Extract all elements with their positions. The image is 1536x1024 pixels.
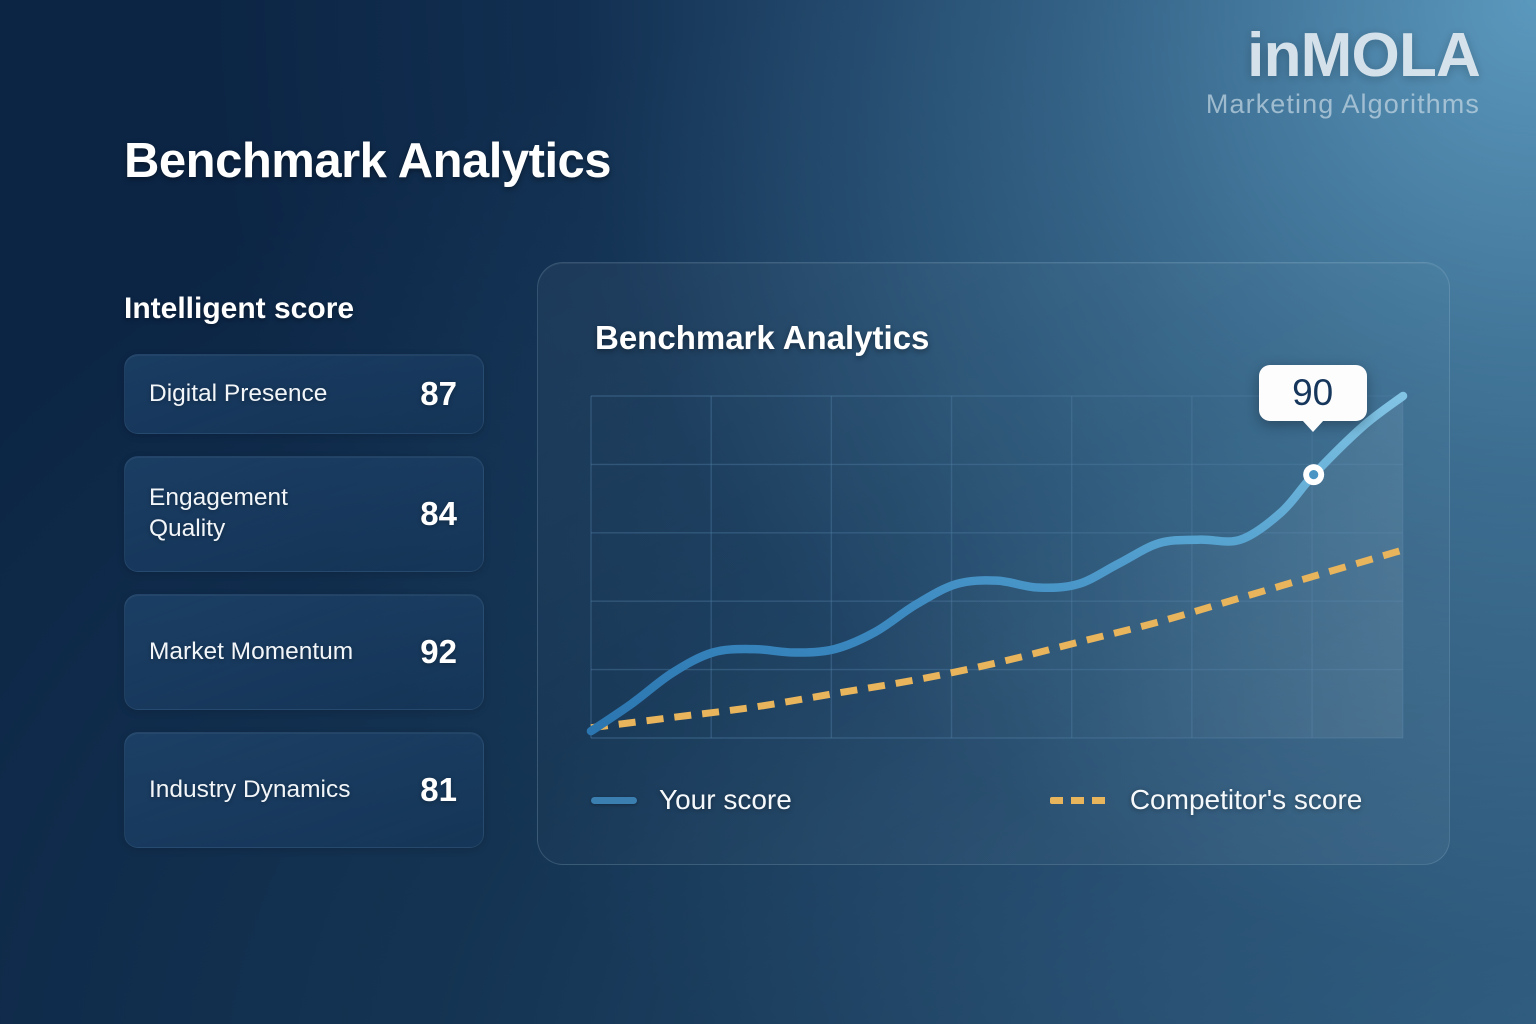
dashed-line-swatch-icon [1050, 797, 1108, 804]
legend-label: Your score [659, 784, 792, 816]
score-card-value: 84 [420, 495, 457, 533]
score-card-engagement-quality[interactable]: Engagement Quality 84 [124, 456, 484, 572]
brand-logo: inMOLA Marketing Algorithms [1206, 24, 1480, 120]
legend-item-competitor-score[interactable]: Competitor's score [1050, 784, 1363, 816]
chart-svg [591, 396, 1403, 738]
page-title: Benchmark Analytics [124, 133, 611, 189]
your-score-area [591, 396, 1403, 738]
score-card-market-momentum[interactable]: Market Momentum 92 [124, 594, 484, 710]
chart-title: Benchmark Analytics [595, 319, 929, 357]
data-point-marker[interactable] [1303, 464, 1324, 485]
brand-tagline: Marketing Algorithms [1206, 89, 1480, 120]
score-card-industry-dynamics[interactable]: Industry Dynamics 81 [124, 732, 484, 848]
score-card-digital-presence[interactable]: Digital Presence 87 [124, 354, 484, 434]
chart-legend: Your score Competitor's score [591, 784, 1362, 816]
legend-item-your-score[interactable]: Your score [591, 784, 792, 816]
solid-line-swatch-icon [591, 797, 637, 804]
line-chart-plot[interactable] [591, 396, 1403, 738]
brand-name: inMOLA [1206, 24, 1480, 87]
slide-canvas: inMOLA Marketing Algorithms Benchmark An… [0, 0, 1536, 1024]
score-card-value: 81 [420, 771, 457, 809]
score-card-value: 87 [420, 375, 457, 413]
chart-panel: Benchmark Analytics [537, 262, 1450, 865]
score-card-label: Market Momentum [149, 637, 353, 668]
legend-label: Competitor's score [1130, 784, 1363, 816]
tooltip-value: 90 [1292, 374, 1333, 413]
section-label: Intelligent score [124, 292, 484, 326]
value-tooltip: 90 [1259, 365, 1367, 421]
score-card-value: 92 [420, 633, 457, 671]
intelligent-score-section: Intelligent score Digital Presence 87 En… [124, 292, 484, 870]
score-card-label: Industry Dynamics [149, 775, 351, 806]
score-card-label: Engagement Quality [149, 483, 364, 545]
tooltip-pointer-icon [1302, 420, 1324, 432]
score-card-label: Digital Presence [149, 379, 327, 410]
